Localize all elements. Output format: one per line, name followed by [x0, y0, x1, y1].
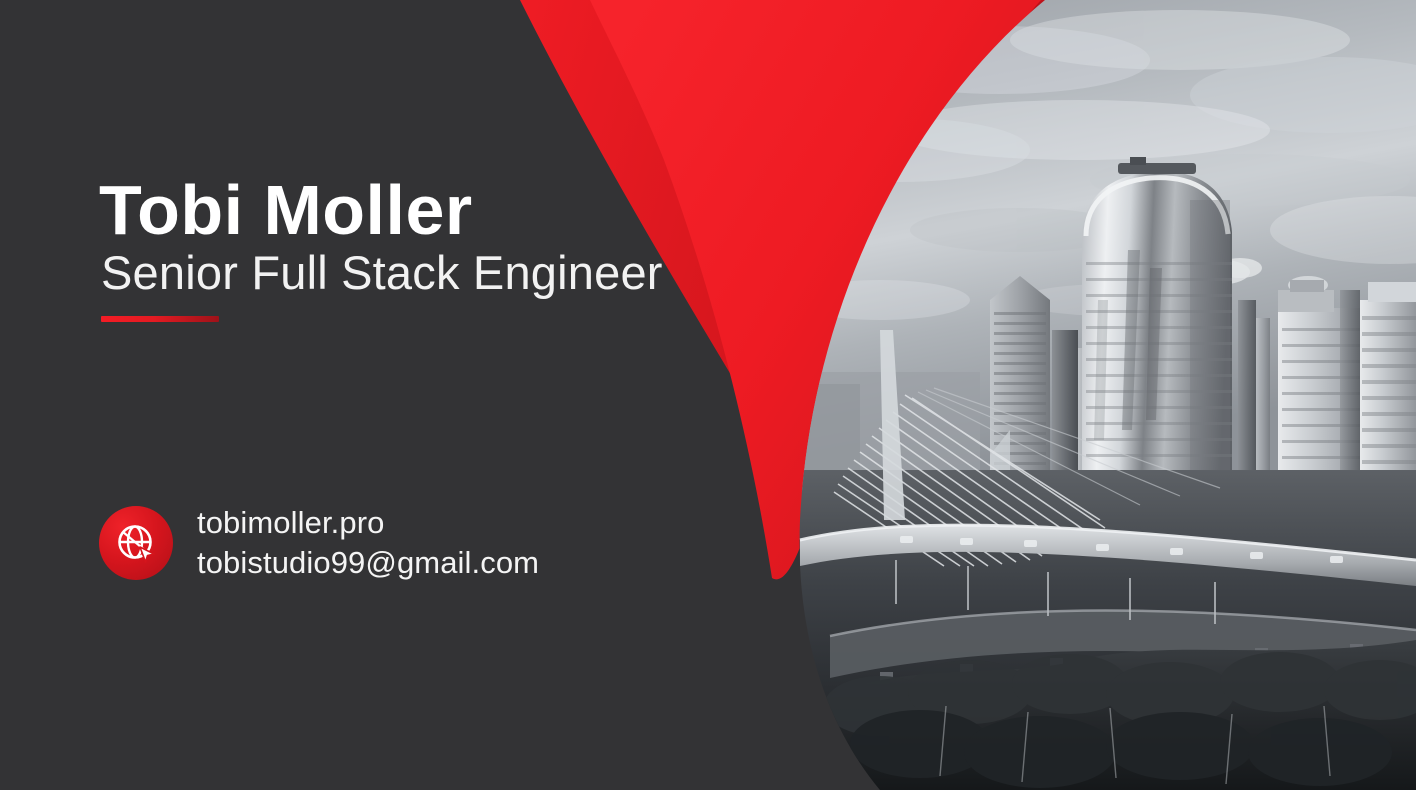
card-artwork	[0, 0, 1416, 790]
business-card: Tobi Moller Senior Full Stack Engineer t…	[0, 0, 1416, 790]
contact-block: tobimoller.pro tobistudio99@gmail.com	[99, 503, 539, 582]
email-text[interactable]: tobistudio99@gmail.com	[197, 544, 539, 582]
globe-cursor-icon[interactable]	[99, 506, 173, 580]
job-title: Senior Full Stack Engineer	[101, 249, 663, 296]
accent-divider	[101, 316, 219, 322]
website-text[interactable]: tobimoller.pro	[197, 504, 539, 542]
person-name: Tobi Moller	[99, 175, 473, 245]
contact-lines: tobimoller.pro tobistudio99@gmail.com	[197, 504, 539, 582]
